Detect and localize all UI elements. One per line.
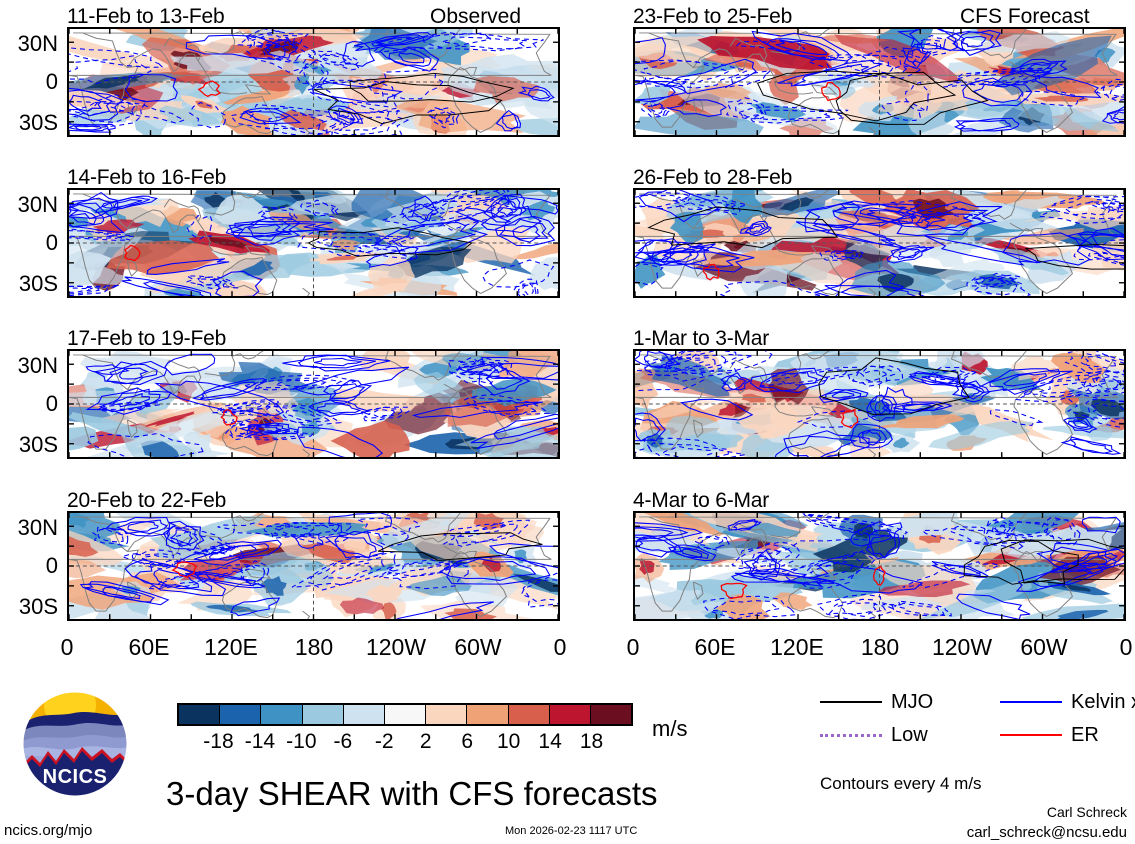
map-panel[interactable]: [633, 511, 1126, 621]
colorbar-segment: [590, 705, 631, 724]
legend-item-er: ER: [1000, 725, 1099, 745]
y-tick-30n: 30N: [0, 517, 58, 539]
legend-item-mjo: MJO: [820, 692, 933, 712]
x-tick-0: 0: [627, 636, 640, 659]
colorbar-tick-label: -10: [286, 731, 316, 752]
y-tick-30n: 30N: [0, 33, 58, 55]
x-tick-360: 0: [1120, 636, 1133, 659]
colorbar-tick-label: -14: [245, 731, 275, 752]
map-canvas: [635, 190, 1124, 296]
x-tick-360: 0: [554, 636, 567, 659]
x-tick-180: 180: [295, 636, 333, 659]
y-tick-0: 0: [0, 232, 58, 254]
map-panel[interactable]: [67, 349, 560, 459]
y-tick-30n: 30N: [0, 194, 58, 216]
map-canvas: [635, 351, 1124, 457]
colorbar-tick-label: -6: [333, 731, 352, 752]
column-tag-forecast: CFS Forecast: [960, 6, 1090, 27]
x-tick-120w: 120W: [366, 636, 426, 659]
site-url[interactable]: ncics.org/mjo: [4, 823, 92, 838]
y-tick-30s: 30S: [0, 273, 58, 295]
panel-title: 14-Feb to 16-Feb: [67, 167, 226, 188]
main-title: 3-day SHEAR with CFS forecasts: [166, 777, 658, 810]
panel-title: 4-Mar to 6-Mar: [633, 490, 769, 511]
timestamp: Mon 2026-02-23 1117 UTC: [505, 826, 637, 837]
x-tick-120e: 120E: [204, 636, 258, 659]
colorbar-tick-label: -2: [375, 731, 394, 752]
kelvin-line-swatch: [1000, 701, 1062, 703]
y-tick-30s: 30S: [0, 112, 58, 134]
x-axis-left: 0 60E 120E 180 120W 60W 0: [67, 636, 560, 666]
x-tick-60e: 60E: [695, 636, 736, 659]
map-panel[interactable]: [633, 349, 1126, 459]
map-canvas: [69, 513, 558, 619]
colorbar-segment: [260, 705, 301, 724]
panel-title: 23-Feb to 25-Feb: [633, 6, 792, 27]
colorbar-tick-label: 10: [497, 731, 520, 752]
panel-title: 20-Feb to 22-Feb: [67, 490, 226, 511]
panel-title: 11-Feb to 13-Feb: [67, 6, 225, 27]
legend-label: MJO: [891, 692, 933, 712]
map-canvas: [69, 29, 558, 135]
legend-label: Kelvin x2: [1071, 692, 1135, 712]
colorbar-segment: [425, 705, 466, 724]
er-line-swatch: [1000, 734, 1062, 736]
colorbar-segment: [343, 705, 384, 724]
panel-title: 17-Feb to 19-Feb: [67, 328, 226, 349]
map-canvas: [635, 29, 1124, 135]
x-tick-120w: 120W: [932, 636, 992, 659]
colorbar-tick-label: -18: [203, 731, 233, 752]
x-tick-60e: 60E: [129, 636, 170, 659]
colorbar-segment: [549, 705, 590, 724]
colorbar-segment: [384, 705, 425, 724]
map-panel[interactable]: [67, 511, 560, 621]
colorbar-segment: [508, 705, 549, 724]
ncics-logo[interactable]: NCICS: [22, 691, 128, 797]
legend-item-kelvin: Kelvin x2: [1000, 692, 1135, 712]
legend-label: Low: [891, 725, 928, 745]
column-tag-observed: Observed: [430, 6, 521, 27]
legend-label: ER: [1071, 725, 1099, 745]
x-axis-right: 0 60E 120E 180 120W 60W 0: [633, 636, 1126, 666]
x-tick-60w: 60W: [1020, 636, 1067, 659]
map-canvas: [635, 513, 1124, 619]
colorbar-tick-label: 6: [461, 731, 473, 752]
x-tick-180: 180: [861, 636, 899, 659]
colorbar-segment: [302, 705, 343, 724]
x-tick-120e: 120E: [770, 636, 824, 659]
y-tick-30n: 30N: [0, 355, 58, 377]
colorbar-tick-label: 18: [580, 731, 603, 752]
colorbar-strip: [177, 703, 633, 726]
y-tick-30s: 30S: [0, 596, 58, 618]
legend-item-low: Low: [820, 725, 928, 745]
map-canvas: [69, 351, 558, 457]
panel-title: 26-Feb to 28-Feb: [633, 167, 792, 188]
author-name: Carl Schreck: [1047, 805, 1127, 819]
map-panel[interactable]: [633, 27, 1126, 137]
colorbar-segment: [179, 705, 219, 724]
svg-text:NCICS: NCICS: [43, 766, 108, 788]
figure-root: 11-Feb to 13-Feb Observed 30N 0 30S 14-F…: [0, 0, 1135, 844]
y-tick-0: 0: [0, 555, 58, 577]
low-line-swatch: [820, 734, 882, 737]
map-canvas: [69, 190, 558, 296]
mjo-line-swatch: [820, 701, 882, 703]
colorbar-segment: [466, 705, 507, 724]
colorbar-units: m/s: [652, 718, 687, 740]
map-panel[interactable]: [633, 188, 1126, 298]
colorbar-segment: [219, 705, 260, 724]
panel-title: 1-Mar to 3-Mar: [633, 328, 769, 349]
colorbar-tick-label: 14: [538, 731, 561, 752]
x-tick-0: 0: [61, 636, 74, 659]
contour-interval-note: Contours every 4 m/s: [820, 775, 982, 792]
colorbar-tick-label: 2: [420, 731, 432, 752]
y-tick-0: 0: [0, 71, 58, 93]
author-email[interactable]: carl_schreck@ncsu.edu: [967, 825, 1127, 840]
x-tick-60w: 60W: [454, 636, 501, 659]
map-panel[interactable]: [67, 27, 560, 137]
y-tick-30s: 30S: [0, 434, 58, 456]
ncics-logo-mark: NCICS: [22, 691, 128, 797]
y-tick-0: 0: [0, 393, 58, 415]
map-panel[interactable]: [67, 188, 560, 298]
